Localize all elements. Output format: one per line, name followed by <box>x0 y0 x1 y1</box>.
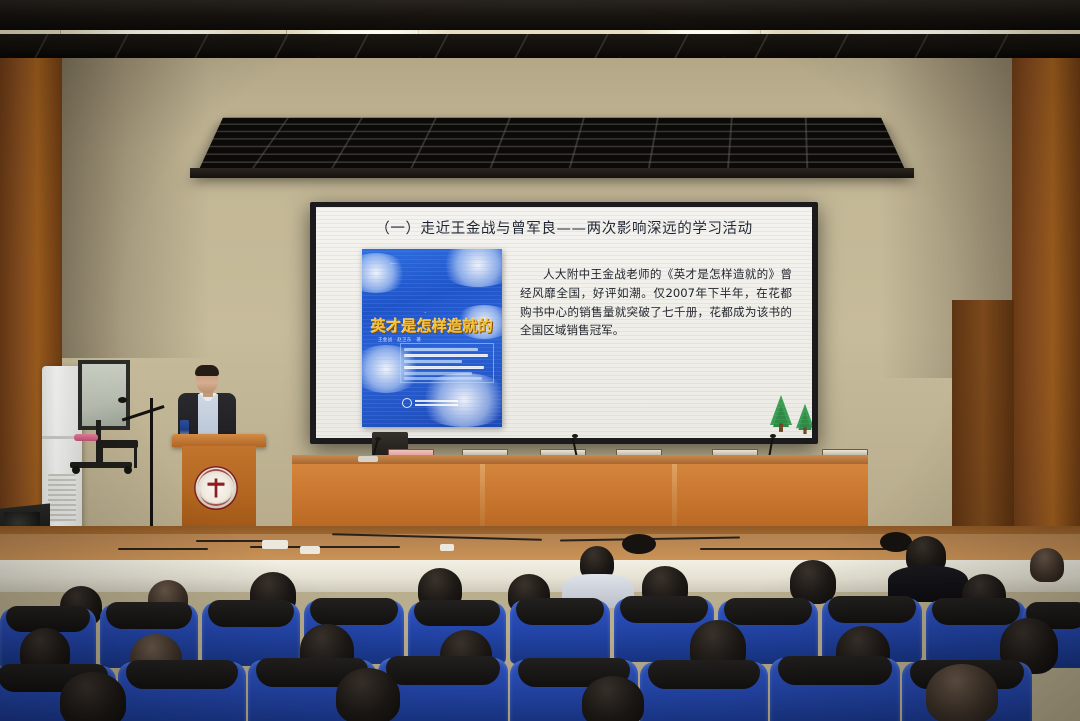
stool-seat <box>98 440 138 448</box>
school-emblem <box>194 466 238 510</box>
audience-seat <box>202 602 300 666</box>
floor-speaker <box>622 534 656 554</box>
projection-screen: （一）走近王金战与曾军良——两次影响深远的学习活动 英才是怎样造就的 王金战 赵… <box>316 207 812 438</box>
audience-seat <box>770 658 900 721</box>
whiteboard-tray <box>74 434 98 441</box>
audience-member <box>60 672 126 721</box>
wood-wall-panel <box>1012 58 1080 538</box>
audience-member <box>582 676 644 721</box>
lighting-truss <box>0 34 1080 60</box>
microphone-head <box>118 397 127 403</box>
audience-seat <box>118 662 246 721</box>
auditorium-lecture-photo: （一）走近王金战与曾军良——两次影响深远的学习活动 英才是怎样造就的 王金战 赵… <box>0 0 1080 721</box>
wood-wall-panel <box>952 300 1014 538</box>
audience-seat <box>510 600 610 664</box>
screen-scanlines <box>316 207 812 438</box>
mic-stand-pole <box>150 398 153 538</box>
ceiling-dark-band <box>0 0 1080 30</box>
audience-member <box>926 664 998 721</box>
audience-member <box>336 668 400 721</box>
table-microphone-head <box>770 434 776 438</box>
table-microphone-head <box>572 434 578 438</box>
audience-seat <box>640 662 768 721</box>
ceiling-frame <box>190 168 914 178</box>
audience-member <box>1030 548 1064 582</box>
speaker-hair <box>195 365 219 376</box>
table-microphone-head <box>375 437 381 441</box>
